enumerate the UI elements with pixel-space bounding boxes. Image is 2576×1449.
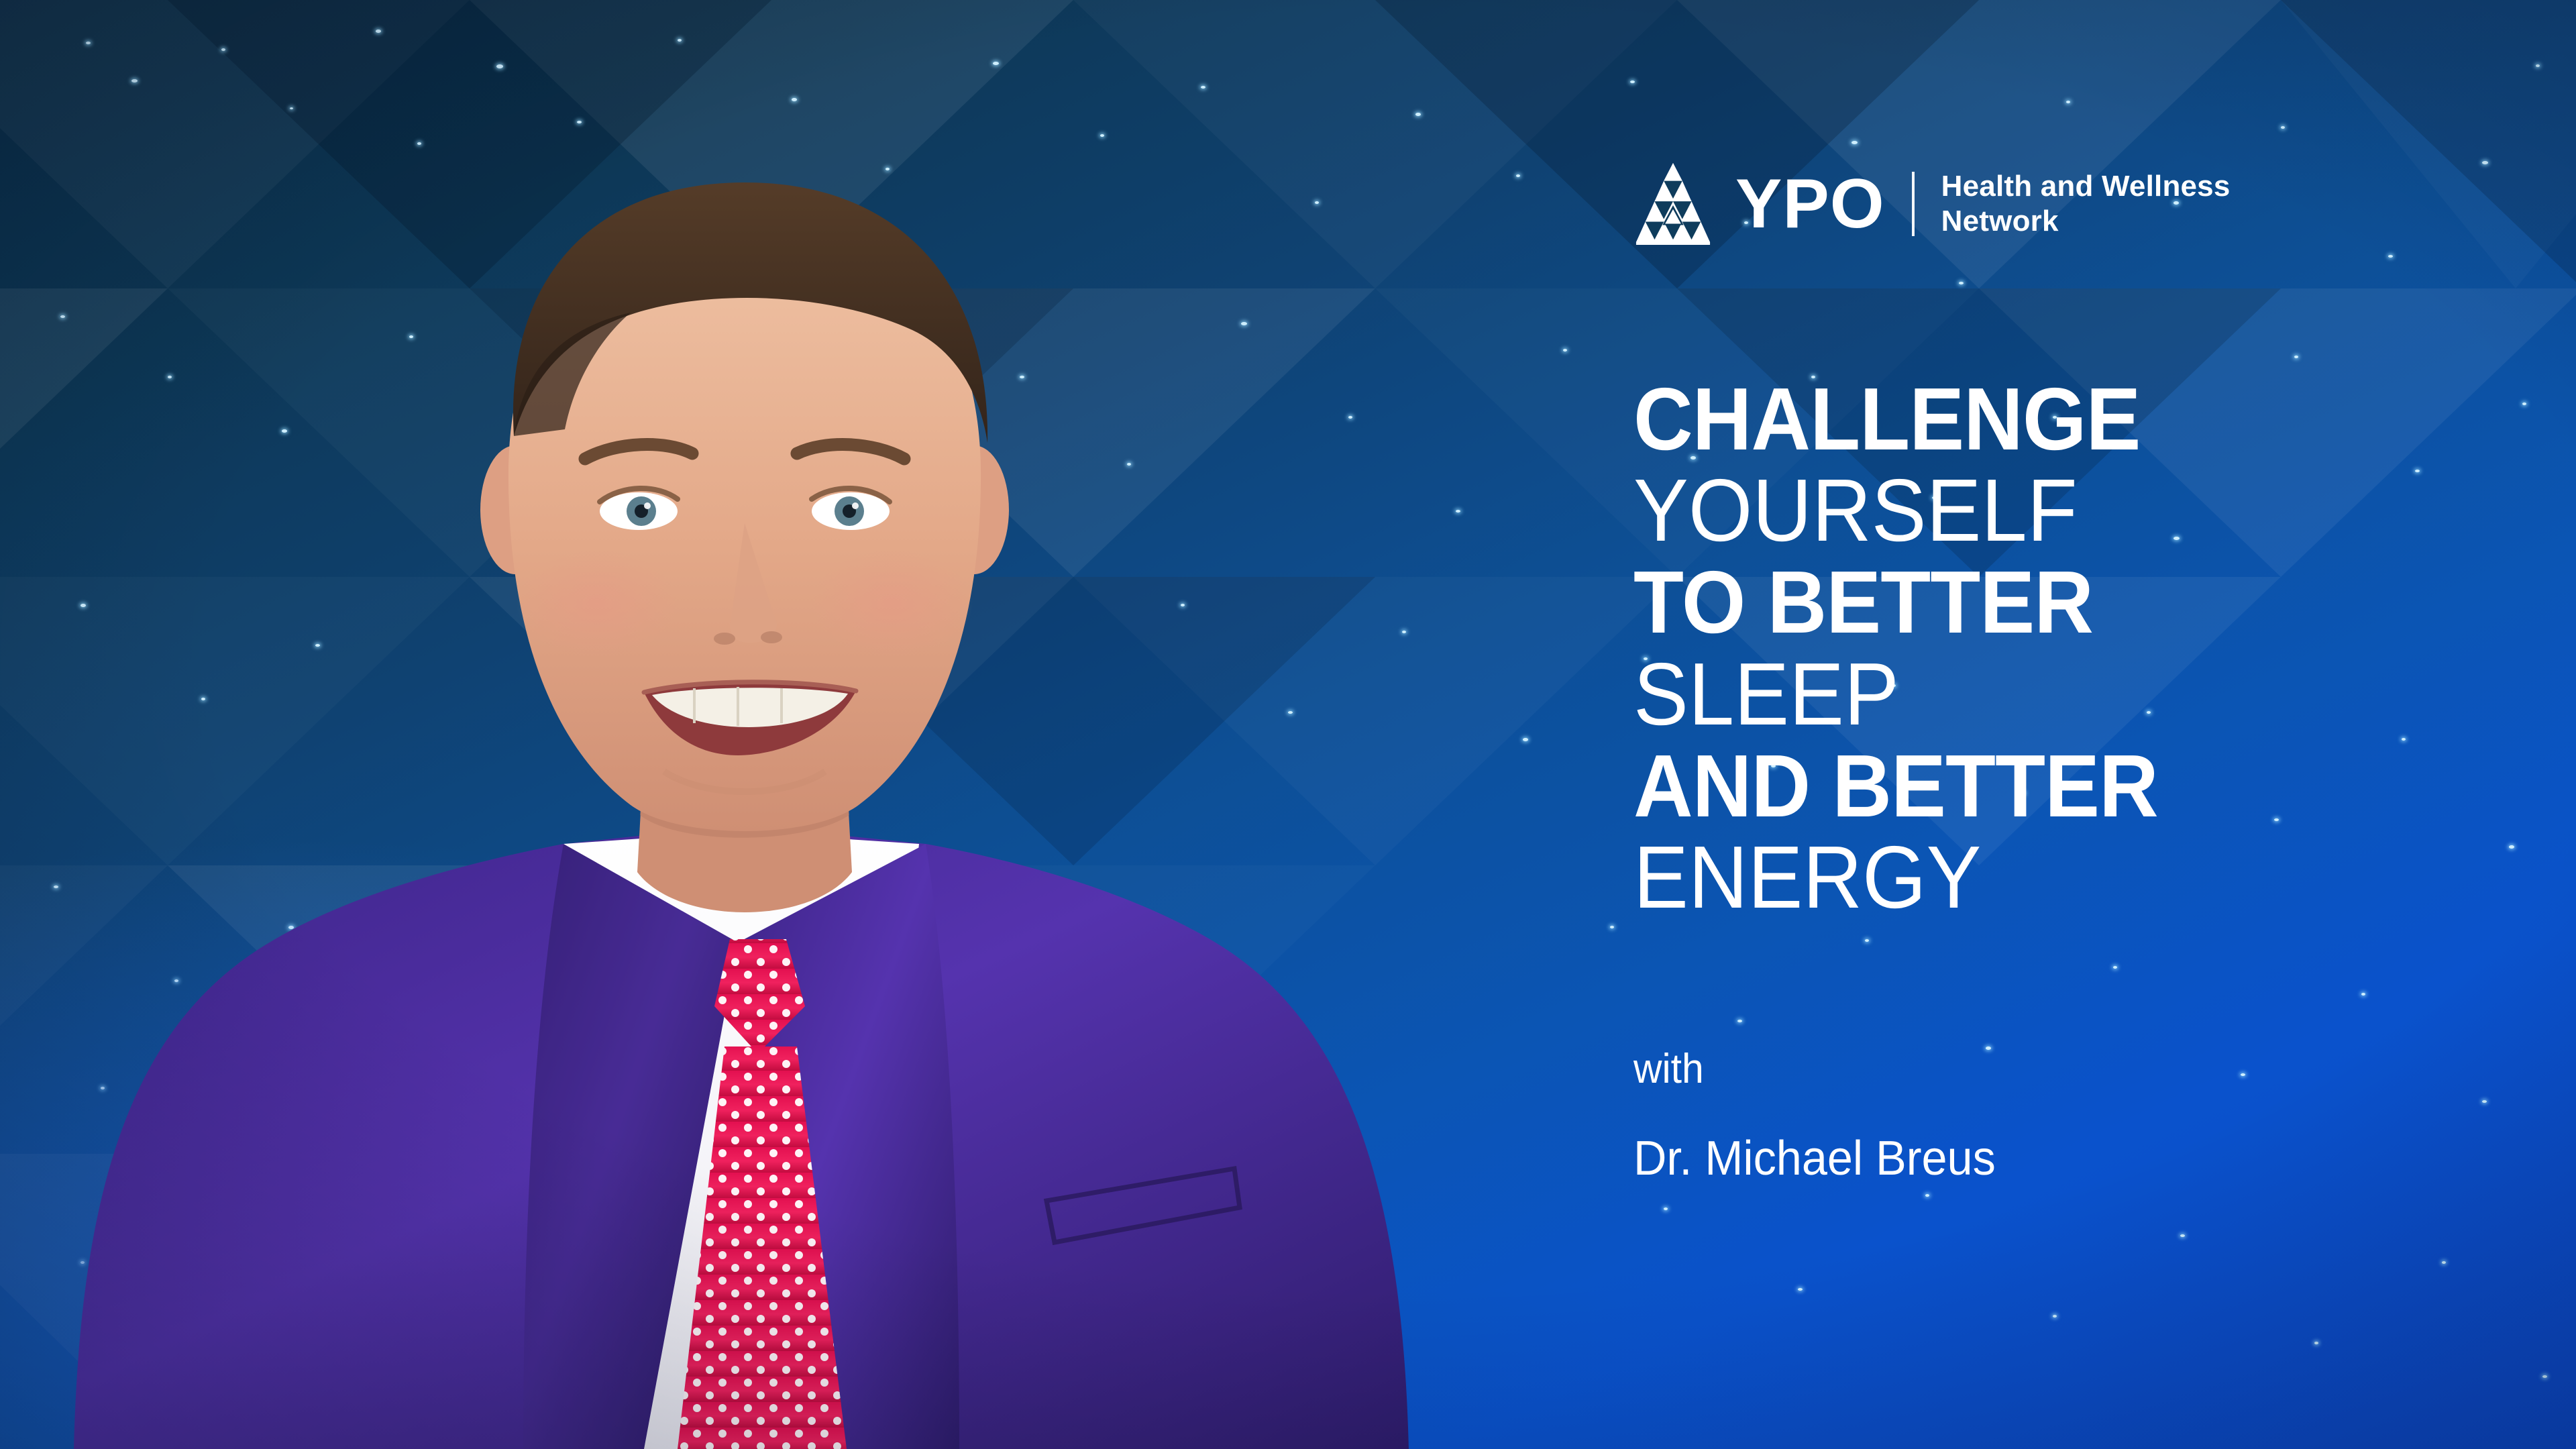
promo-banner: YPO Health and Wellness Network CHALLENG…	[0, 0, 2576, 1449]
headline-line-4: SLEEP	[1633, 650, 2469, 739]
headline-block: CHALLENGE YOURSELF TO BETTER SLEEP AND B…	[1633, 376, 2532, 922]
content-column: YPO Health and Wellness Network CHALLENG…	[1633, 0, 2532, 1449]
ypo-triangle-mark-icon	[1633, 160, 1713, 248]
speaker-portrait	[54, 0, 1436, 1449]
headline-line-5: AND BETTER	[1633, 743, 2469, 829]
speaker-credit: with Dr. Michael Breus	[1633, 1046, 2015, 1185]
ypo-logo-lockup[interactable]: YPO Health and Wellness Network	[1633, 160, 2231, 248]
headline-line-1: CHALLENGE	[1633, 376, 2469, 462]
network-line-2: Network	[1941, 204, 2231, 239]
logo-divider	[1912, 172, 1915, 236]
ypo-wordmark: YPO	[1735, 169, 1885, 239]
credit-with-label: with	[1633, 1046, 1996, 1092]
headline-line-3: TO BETTER	[1633, 559, 2469, 645]
headline-line-2: YOURSELF	[1633, 466, 2469, 555]
credit-speaker-name: Dr. Michael Breus	[1633, 1132, 1996, 1185]
headline-line-6: ENERGY	[1633, 833, 2469, 922]
network-line-1: Health and Wellness	[1941, 169, 2231, 204]
network-name: Health and Wellness Network	[1941, 169, 2231, 239]
